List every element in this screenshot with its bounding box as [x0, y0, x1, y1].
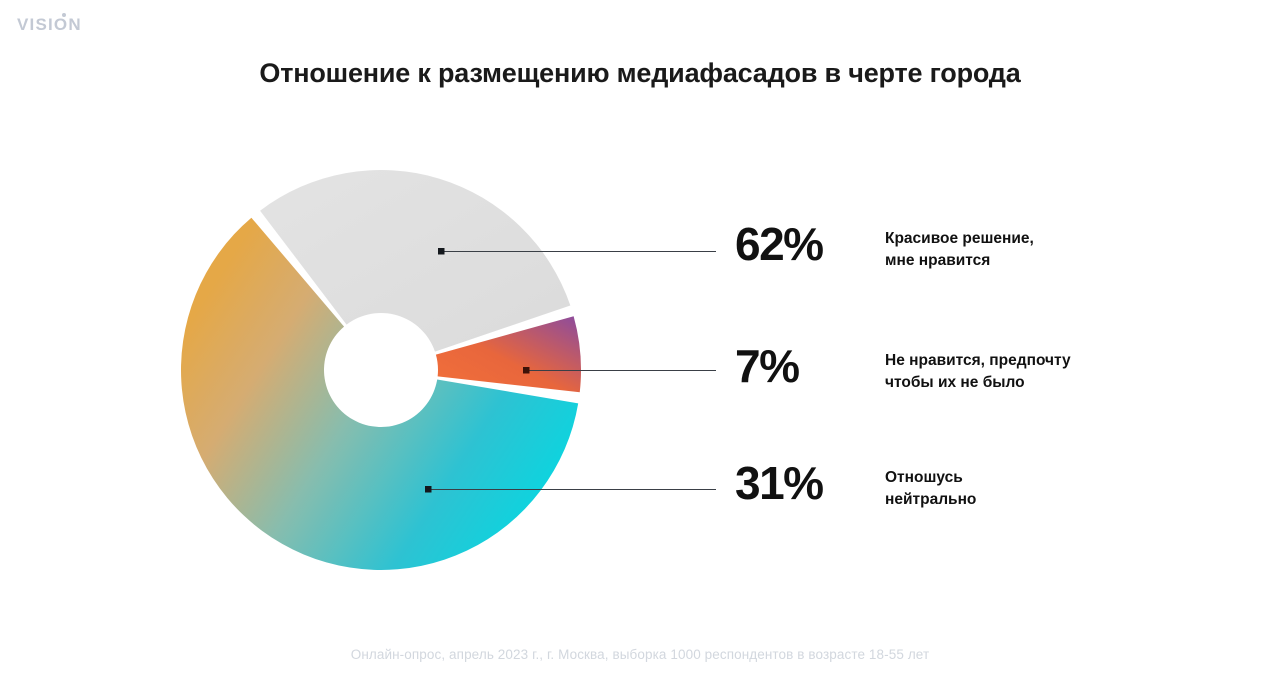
legend-label: Не нравится, предпочту чтобы их не было [885, 344, 1071, 394]
page-title: Отношение к размещению медиафасадов в че… [0, 58, 1280, 89]
brand-logo: VISION [17, 16, 82, 33]
donut-chart-svg [0, 0, 1280, 700]
donut-leader-lines [425, 248, 716, 493]
brand-logo-dot-icon [62, 13, 66, 17]
donut-slices [181, 170, 581, 570]
legend-label: Красивое решение, мне нравится [885, 222, 1034, 272]
donut-slice-disliked[interactable] [436, 316, 581, 392]
legend-item-disliked[interactable]: 7% Не нравится, предпочту чтобы их не бы… [735, 344, 1071, 394]
legend-value: 7% [735, 344, 885, 389]
leader-dot-62 [438, 248, 445, 255]
legend-label: Отношусь нейтрально [885, 461, 976, 511]
donut-slice-neutral[interactable] [260, 170, 570, 352]
donut-slice-liked[interactable] [181, 218, 578, 570]
legend-item-neutral[interactable]: 31% Отношусь нейтрально [735, 461, 976, 511]
legend-item-liked[interactable]: 62% Красивое решение, мне нравится [735, 222, 1034, 272]
footer-note: Онлайн-опрос, апрель 2023 г., г. Москва,… [0, 647, 1280, 662]
legend-value: 31% [735, 461, 885, 506]
legend-value: 62% [735, 222, 885, 267]
donut-chart [0, 0, 1280, 700]
leader-dot-31 [425, 486, 432, 493]
leader-dot-7 [523, 367, 530, 374]
brand-logo-text: VISION [17, 15, 82, 34]
